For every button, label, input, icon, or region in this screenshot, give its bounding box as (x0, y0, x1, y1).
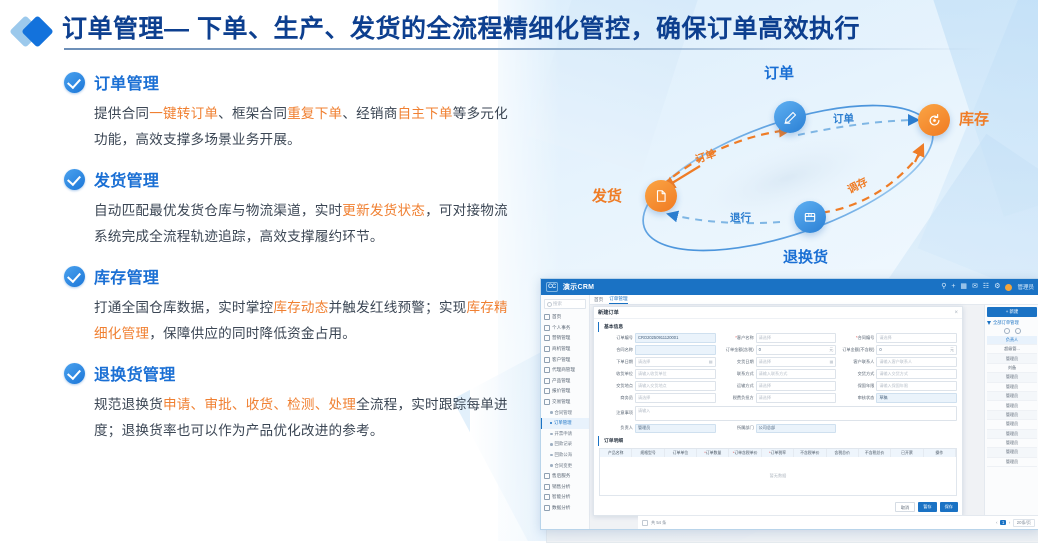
field-input[interactable]: CRO20250911120001 (635, 333, 716, 343)
field-select[interactable]: 请选择 (756, 333, 837, 343)
table-header-row: 产品名称 规格型号 订单单位 *订单数量 *订单含税单价 *订单税率 不含税单价… (600, 449, 956, 457)
crm-screenshot-window[interactable]: CC 演示CRM ⚲ + ▦ ✉ ☷ ⚙ 管理员 搜索 首页 个人事务 营销管理… (540, 278, 1038, 530)
sidebar-item-label: 营销管理 (552, 335, 570, 341)
feature-header: 发货管理 (64, 167, 524, 191)
order-detail-table: 产品名称 规格型号 订单单位 *订单数量 *订单含税单价 *订单税率 不含税单价… (599, 448, 957, 496)
flow-label-order-blue: 订单 (833, 111, 854, 126)
sidebar-item-label: 报价管理 (552, 388, 570, 394)
crm-topbar: CC 演示CRM ⚲ + ▦ ✉ ☷ ⚙ 管理员 (541, 279, 1038, 295)
field-select[interactable]: 草稿 (876, 393, 957, 403)
field-date-picker[interactable]: 请选择▦ (756, 357, 837, 367)
calendar-icon: ▦ (709, 359, 713, 364)
field-contract-name: 合同名称 (599, 345, 716, 355)
field-label: 客户联系人 (840, 359, 874, 365)
field-label: 订单金额(含税) (720, 347, 754, 353)
field-value: 请选择 (759, 359, 771, 365)
sidebar-item-label: 开票申请 (555, 431, 573, 437)
refresh-cycle-icon (927, 113, 942, 128)
prev-page-button[interactable]: ‹ (996, 520, 997, 525)
list-item[interactable]: 管理员 (987, 354, 1037, 363)
record-count: 共 54 条 (651, 520, 666, 526)
close-icon[interactable]: × (954, 310, 958, 316)
sidebar-subitem-contract-change[interactable]: 合同变更 (541, 460, 589, 471)
crm-pagination-bar: 共 54 条 ‹ 1 › 20条/页 (638, 515, 1038, 529)
calendar-icon: ▦ (830, 359, 834, 364)
sidebar-search-input[interactable]: 搜索 (544, 299, 586, 309)
bullet-icon (550, 464, 553, 467)
target-icon (544, 346, 550, 352)
field-input[interactable]: 请输入收货单位 (635, 369, 716, 379)
table-header-cell: *订单数量 (697, 449, 729, 457)
field-input[interactable]: 请输入联系方式 (756, 369, 837, 379)
gear-icon[interactable]: ⚙ (994, 283, 1000, 291)
dialog-footer: 取消 暂存 保存 (895, 502, 958, 512)
field-order-amount-tax: 订单金额(含税) 0元 (720, 345, 837, 355)
field-delivery-method: 交货方式 请输入交货方式 (840, 369, 957, 379)
field-remark: 注意事项 请输入 (599, 406, 957, 422)
text-segment: ，保障供应的同时降低资金占用。 (149, 326, 356, 341)
sidebar-item-label: 产品管理 (552, 378, 570, 384)
field-select[interactable]: 请选择 (756, 393, 837, 403)
list-item[interactable]: 管理员 (987, 373, 1037, 382)
handshake-icon (544, 367, 550, 373)
field-value: 请选择 (638, 359, 650, 365)
field-order-amount-notax: 订单金额(不含税) 0元 (840, 345, 957, 355)
list-item[interactable]: 管理员 (987, 411, 1037, 420)
feature-item: 发货管理 自动匹配最优发货仓库与物流渠道，实时更新发货状态，可对接物流系统完成全… (64, 167, 524, 250)
list-item[interactable]: 管理员 (987, 448, 1037, 457)
section-title-order-detail: 订单明细 (598, 436, 962, 446)
crm-right-panel: + 新建 全部订单管理 负责人 超级管... 管理员 刘备 管理员 管理员 管理… (984, 305, 1038, 515)
list-item[interactable]: 管理员 (987, 458, 1037, 467)
field-select[interactable]: 请选择 (876, 333, 957, 343)
sidebar-subitem-invoice[interactable]: 开票申请 (541, 429, 589, 440)
avatar[interactable] (1005, 284, 1012, 291)
feature-title: 发货管理 (94, 167, 159, 191)
feature-header: 退换货管理 (64, 361, 524, 385)
sidebar-item-label: 客户管理 (552, 357, 570, 363)
highlight-segment: 申请、审批、收货、检测、处理 (163, 397, 356, 412)
crm-main-area: 首页 订单管理 + 新建 全部订单管理 负责人 超级管... 管理员 刘备 管理… (590, 295, 1038, 529)
search-icon[interactable]: ⚲ (941, 283, 946, 291)
tag-icon (544, 388, 550, 394)
users-icon (544, 357, 550, 363)
field-label: 运输方式 (720, 383, 754, 389)
next-page-button[interactable]: › (1009, 520, 1010, 525)
form-row: 下单日期 请选择▦ 交货日期 请选择▦ 客户联系人 请输入客户联系人 (594, 357, 962, 367)
feature-description: 打通全国仓库数据，实时掌控库存动态并触发红线预警；实现库存精细化管理，保障供应的… (94, 295, 514, 347)
sidebar-item-personal[interactable]: 个人事务 (541, 323, 589, 334)
message-icon[interactable]: ✉ (972, 283, 978, 291)
field-label: 税费负担方 (720, 395, 754, 401)
field-spacer (840, 424, 957, 434)
bullet-icon (550, 454, 553, 457)
sidebar-item-label: 合同变更 (555, 463, 573, 469)
new-order-dialog: 新建订单 × 基本信息 订单编号 CRO20250911120001 *客户名称… (593, 306, 963, 516)
highlight-segment: 一键转订单 (149, 106, 218, 121)
sidebar-subitem-payment[interactable]: 回款记录 (541, 439, 589, 450)
sidebar-item-label: 回款公海 (555, 452, 573, 458)
crm-body: 搜索 首页 个人事务 营销管理 商机管理 客户管理 代理商管理 产品管理 报价管… (541, 295, 1038, 529)
form-row-remark: 注意事项 请输入 (594, 406, 962, 422)
double-diamond-icon (14, 16, 58, 46)
dialog-title: 新建订单 (598, 309, 619, 316)
list-item[interactable]: 管理员 (987, 439, 1037, 448)
field-tax-bearer: 税费负担方 请选择 (720, 393, 837, 403)
sidebar-item-label: 交易管理 (552, 399, 570, 405)
node-return-exchange[interactable] (794, 201, 826, 233)
feature-title: 退换货管理 (94, 361, 176, 385)
text-segment: 提供合同 (94, 106, 149, 121)
sidebar-item-quotation[interactable]: 报价管理 (541, 386, 589, 397)
apps-icon[interactable]: ▦ (960, 283, 967, 291)
field-customer-name: *客户名称 请选择 (720, 333, 837, 343)
field-input[interactable]: 请输入交货地点 (635, 381, 716, 391)
page-size-select[interactable]: 20条/页 (1013, 519, 1035, 527)
check-circle-icon (64, 266, 85, 287)
sidebar-item-label: 合同管理 (555, 410, 573, 416)
diagram-label-inventory: 库存 (959, 108, 989, 129)
table-header-cell: *订单税率 (762, 449, 794, 457)
field-order-number: 订单编号 CRO20250911120001 (599, 333, 716, 343)
field-label: 注意事项 (599, 410, 633, 416)
dialog-header: 新建订单 × (594, 307, 962, 319)
feature-item: 库存管理 打通全国仓库数据，实时掌控库存动态并触发红线预警；实现库存精细化管理，… (64, 264, 524, 347)
field-label: 合同名称 (599, 347, 633, 353)
sidebar-item-label: 智能分析 (552, 494, 570, 500)
check-circle-icon (64, 169, 85, 190)
sidebar-item-label: 代理商管理 (552, 367, 575, 373)
table-header-cell: 订单单位 (665, 449, 697, 457)
flow-label-return: 退行 (730, 210, 751, 225)
field-value: 0 (879, 347, 881, 352)
page-header: 订单管理— 下单、生产、发货的全流程精细化管控，确保订单高效执行 (0, 0, 1038, 60)
diagram-label-order: 订单 (764, 62, 794, 83)
crm-username: 管理员 (1017, 283, 1034, 291)
table-header-cell: 含税总价 (827, 449, 859, 457)
feature-item: 退换货管理 规范退换货申请、审批、收货、检测、处理全流程，实时跟踪每单进度；退换… (64, 361, 524, 444)
crm-brand-name: 演示CRM (563, 282, 594, 292)
feature-item: 订单管理 提供合同一键转订单、框架合同重复下单、经销商自主下单等多元化功能，高效… (64, 70, 524, 153)
feature-header: 库存管理 (64, 264, 524, 288)
field-customer-contact: 客户联系人 请输入客户联系人 (840, 357, 957, 367)
field-label: 交货地点 (599, 383, 633, 389)
cancel-button[interactable]: 取消 (895, 502, 915, 512)
filter-label: 全部订单管理 (993, 320, 1019, 326)
field-owner: 负责人 管理员 (599, 424, 716, 434)
field-input[interactable]: 请输入保固年限 (876, 381, 957, 391)
feature-description: 规范退换货申请、审批、收货、检测、处理全流程，实时跟踪每单进度；退换货率也可以作… (94, 392, 514, 444)
highlight-segment: 库存动态 (273, 300, 328, 315)
sidebar-item-marketing[interactable]: 营销管理 (541, 333, 589, 344)
table-header-cell: 规格型号 (632, 449, 664, 457)
sidebar-item-service[interactable]: 售后服务 (541, 471, 589, 482)
list-item[interactable]: 管理员 (987, 430, 1037, 439)
tab-order-management[interactable]: 订单管理 (609, 296, 627, 304)
plus-icon[interactable]: + (951, 283, 955, 291)
crm-sidebar: 搜索 首页 个人事务 营销管理 商机管理 客户管理 代理商管理 产品管理 报价管… (541, 295, 590, 529)
panel-icon-row (987, 328, 1037, 334)
feature-description: 提供合同一键转订单、框架合同重复下单、经销商自主下单等多元化功能，高效支撑多场景… (94, 101, 514, 153)
sidebar-item-label: 数据分析 (552, 505, 570, 511)
field-label: 保固年限 (840, 383, 874, 389)
pager: ‹ 1 › 20条/页 (996, 519, 1035, 527)
table-header-cell: 操作 (924, 449, 956, 457)
megaphone-icon (544, 335, 550, 341)
field-date-picker[interactable]: 请选择▦ (635, 357, 716, 367)
list-item[interactable]: 管理员 (987, 420, 1037, 429)
field-delivery-location: 交货地点 请输入交货地点 (599, 381, 716, 391)
bullet-icon (550, 411, 553, 414)
field-unit: 元 (829, 347, 833, 353)
diagram-label-return: 退换货 (783, 246, 828, 267)
form-row: 订单编号 CRO20250911120001 *客户名称 请选择 *合同编号 请… (594, 333, 962, 343)
highlight-segment: 重复下单 (287, 106, 342, 121)
sidebar-item-smart-analysis[interactable]: 智能分析 (541, 492, 589, 503)
feature-description: 自动匹配最优发货仓库与物流渠道，实时更新发货状态，可对接物流系统完成全流程轨迹追… (94, 198, 514, 250)
field-label: 联系方式 (720, 371, 754, 377)
refresh-icon[interactable] (1004, 328, 1010, 334)
field-contract-number: *合同编号 请选择 (840, 333, 957, 343)
text-segment: 打通全国仓库数据，实时掌控 (94, 300, 273, 315)
settings-icon[interactable] (1015, 328, 1021, 334)
flow-arrowhead-stock-up (915, 145, 923, 162)
select-all-checkbox[interactable] (642, 520, 648, 526)
sidebar-item-label: 订单管理 (554, 420, 572, 426)
field-receiving-unit: 收货单位 请输入收货单位 (599, 369, 716, 379)
table-empty-state: 暂无数据 (600, 457, 956, 495)
field-input[interactable]: 0元 (756, 345, 837, 355)
form-row-owner: 负责人 管理员 所属部门 公司总部 (594, 424, 962, 434)
home-icon (544, 314, 550, 320)
bullet-icon (550, 422, 553, 425)
chart-icon (544, 484, 550, 490)
text-segment: 规范退换货 (94, 397, 163, 412)
list-item[interactable]: 超级管... (987, 345, 1037, 354)
field-contact-method: 联系方式 请输入联系方式 (720, 369, 837, 379)
form-row: 商务员 请选择 税费负担方 请选择 审核状态 草稿 (594, 393, 962, 403)
list-item[interactable]: 管理员 (987, 383, 1037, 392)
field-order-date: 下单日期 请选择▦ (599, 357, 716, 367)
sidebar-item-sales-analysis[interactable]: 销售分析 (541, 482, 589, 493)
field-audit-status: 审核状态 草稿 (840, 393, 957, 403)
sidebar-item-customer[interactable]: 客户管理 (541, 354, 589, 365)
field-label: 商务员 (599, 395, 633, 401)
sidebar-item-agent[interactable]: 代理商管理 (541, 365, 589, 376)
form-row: 合同名称 订单金额(含税) 0元 订单金额(不含税) 0元 (594, 345, 962, 355)
field-label: 审核状态 (840, 395, 874, 401)
highlight-segment: 自主下单 (398, 106, 453, 121)
table-header-text: 订单税率 (770, 450, 786, 455)
table-header-cell: *订单含税单价 (729, 449, 761, 457)
feature-title: 订单管理 (94, 70, 159, 94)
feature-header: 订单管理 (64, 70, 524, 94)
field-label: *客户名称 (720, 335, 754, 341)
table-header-cell: 不含税单价 (794, 449, 826, 457)
field-warranty-years: 保固年限 请输入保固年限 (840, 381, 957, 391)
box-return-icon (803, 210, 817, 224)
table-header-cell: 已开票 (891, 449, 923, 457)
field-input[interactable]: 0元 (876, 345, 957, 355)
sidebar-search-placeholder: 搜索 (553, 301, 562, 307)
sidebar-item-label: 商机管理 (552, 346, 570, 352)
sidebar-item-transaction[interactable]: 交易管理 (541, 397, 589, 408)
sidebar-item-opportunity[interactable]: 商机管理 (541, 344, 589, 355)
order-flow-diagram: 订单 库存 退换货 发货 订单 调存 退行 订单 (540, 62, 1038, 282)
field-value: 0 (759, 347, 761, 352)
sidebar-item-label: 售后服务 (552, 473, 570, 479)
form-row: 交货地点 请输入交货地点 运输方式 请选择 保固年限 请输入保固年限 (594, 381, 962, 391)
text-segment: 、框架合同 (218, 106, 287, 121)
list-item[interactable]: 刘备 (987, 364, 1037, 373)
field-label-text: 合同编号 (858, 335, 875, 340)
sidebar-item-label: 个人事务 (552, 325, 570, 331)
sidebar-item-label: 首页 (552, 314, 561, 320)
check-circle-icon (64, 363, 85, 384)
list-item[interactable]: 管理员 (987, 401, 1037, 410)
check-circle-icon (64, 72, 85, 93)
table-header-text: 订单数量 (706, 450, 722, 455)
highlight-segment: 更新发货状态 (342, 203, 425, 218)
field-label: 收货单位 (599, 371, 633, 377)
cube-icon (544, 378, 550, 384)
feature-list: 订单管理 提供合同一键转订单、框架合同重复下单、经销商自主下单等多元化功能，高效… (64, 70, 524, 458)
sidebar-item-label: 回款记录 (555, 441, 573, 447)
field-unit: 元 (950, 347, 954, 353)
person-icon (544, 325, 550, 331)
table-header-cell: 产品名称 (600, 449, 632, 457)
field-label: 交货方式 (840, 371, 874, 377)
service-icon (544, 473, 550, 479)
bullet-icon (550, 433, 553, 436)
node-shipment[interactable] (645, 180, 677, 212)
field-label: 负责人 (599, 425, 633, 431)
diagram-label-shipment: 发货 (592, 185, 622, 206)
text-segment: 、经销商 (342, 106, 397, 121)
sidebar-item-home[interactable]: 首页 (541, 312, 589, 323)
field-select[interactable]: 请选择 (635, 393, 716, 403)
document-icon (654, 189, 668, 203)
page-title: 订单管理— 下单、生产、发货的全流程精细化管控，确保订单高效执行 (62, 9, 860, 45)
header-divider (64, 48, 984, 50)
cart-icon (544, 399, 550, 405)
brain-icon (544, 494, 550, 500)
text-segment: 自动匹配最优发货仓库与物流渠道，实时 (94, 203, 342, 218)
pen-write-icon (783, 110, 798, 125)
field-transport-method: 运输方式 请选择 (720, 381, 837, 391)
crm-tab-bar: 首页 订单管理 (590, 295, 1038, 305)
node-order[interactable] (774, 101, 806, 133)
field-input[interactable]: 管理员 (635, 424, 716, 434)
text-segment: 并触发红线预警；实现 (329, 300, 467, 315)
field-delivery-date: 交货日期 请选择▦ (720, 357, 837, 367)
sidebar-subitem-order[interactable]: 订单管理 (541, 418, 589, 429)
sidebar-subitem-payment-pool[interactable]: 回款公海 (541, 450, 589, 461)
field-label: 订单编号 (599, 335, 633, 341)
field-department: 所属部门 公司总部 (720, 424, 837, 434)
report-icon (544, 505, 550, 511)
field-select[interactable]: 请选择 (756, 381, 837, 391)
field-input[interactable]: 请输入交货方式 (876, 369, 957, 379)
field-label: 下单日期 (599, 359, 633, 365)
field-business-person: 商务员 请选择 (599, 393, 716, 403)
filter-icon (987, 321, 991, 325)
node-inventory[interactable] (918, 104, 950, 136)
grid-icon[interactable]: ☷ (983, 283, 989, 291)
field-label: *合同编号 (840, 335, 874, 341)
field-label: 所属部门 (720, 425, 754, 431)
sidebar-item-data-analysis[interactable]: 数据分析 (541, 503, 589, 514)
field-label: 订单金额(不含税) (840, 347, 874, 353)
crm-logo-icon: CC (546, 282, 558, 292)
page-number[interactable]: 1 (1000, 520, 1006, 525)
field-label-text: 客户名称 (737, 335, 754, 340)
feature-title: 库存管理 (94, 264, 159, 288)
table-header-text: 订单含税单价 (734, 450, 757, 455)
crm-topbar-actions: ⚲ + ▦ ✉ ☷ ⚙ 管理员 (941, 283, 1034, 291)
new-button[interactable]: + 新建 (987, 307, 1037, 317)
save-button[interactable]: 保存 (940, 502, 958, 512)
search-icon (547, 302, 552, 307)
form-row: 收货单位 请输入收货单位 联系方式 请输入联系方式 交货方式 请输入交货方式 (594, 369, 962, 379)
field-textarea[interactable]: 请输入 (635, 406, 957, 422)
table-header-cell: 不含税总价 (859, 449, 891, 457)
bullet-icon (550, 443, 553, 446)
list-item[interactable]: 管理员 (987, 392, 1037, 401)
section-title-basic-info: 基本信息 (598, 322, 962, 332)
sidebar-subitem-contract[interactable]: 合同管理 (541, 407, 589, 418)
sidebar-item-label: 销售分析 (552, 484, 570, 490)
field-input[interactable]: 请输入客户联系人 (876, 357, 957, 367)
list-column-header: 负责人 (987, 336, 1037, 345)
save-draft-button[interactable]: 暂存 (918, 502, 936, 512)
tab-home[interactable]: 首页 (594, 297, 603, 303)
field-input[interactable] (635, 345, 716, 355)
field-label: 交货日期 (720, 359, 754, 365)
sidebar-item-product[interactable]: 产品管理 (541, 376, 589, 387)
field-input[interactable]: 公司总部 (756, 424, 837, 434)
filter-selector[interactable]: 全部订单管理 (987, 320, 1037, 326)
